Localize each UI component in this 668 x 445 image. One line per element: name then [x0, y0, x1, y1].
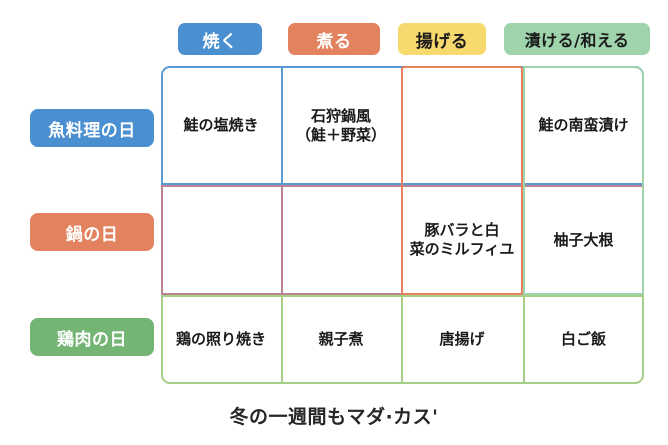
cell-text-line1: 鮭の南蛮漬け	[538, 116, 628, 134]
column-header-label: 煮る	[317, 27, 352, 52]
cell-r1-c0[interactable]	[161, 185, 281, 295]
column-header-yaku[interactable]: 焼く	[178, 23, 262, 55]
cell-r1-c3[interactable]: 柚子大根	[523, 185, 644, 295]
cell-text-line2: （鮭＋野菜）	[296, 126, 386, 144]
cell-r0-c2[interactable]	[401, 66, 523, 185]
cell-r1-c1[interactable]	[281, 185, 401, 295]
row-header-label: 魚料理の日	[48, 116, 136, 141]
row-header-label: 鶏肉の日	[57, 325, 127, 350]
meal-plan-matrix: 焼く 煮る 揚げる 漬ける/和える 魚料理の日 鍋の日 鶏肉の日 鮭の塩焼き 石…	[0, 0, 668, 445]
cell-text-line1: 鮭の塩焼き	[183, 116, 258, 134]
cell-r2-c2[interactable]: 唐揚げ	[401, 295, 523, 384]
column-header-tsukeru-aeru[interactable]: 漬ける/和える	[504, 23, 650, 55]
row-header-label: 鍋の日	[66, 220, 119, 245]
cell-r2-c3[interactable]: 白ご飯	[523, 295, 644, 384]
cell-text-line1: 石狩鍋風	[311, 107, 371, 125]
column-header-label: 焼く	[203, 27, 238, 52]
cell-r2-c1[interactable]: 親子煮	[281, 295, 401, 384]
cell-text-line1: 唐揚げ	[439, 330, 484, 348]
cell-text-line1: 白ご飯	[561, 330, 606, 348]
dish-grid: 鮭の塩焼き 石狩鍋風 （鮭＋野菜） 鮭の南蛮漬け	[161, 66, 644, 384]
caption: 冬の一週間もマダ·カス'	[0, 402, 668, 429]
row-header-nabe-day[interactable]: 鍋の日	[30, 213, 154, 251]
cell-text-line1: 鶏の照り焼き	[176, 330, 266, 348]
cell-text-line1: 親子煮	[318, 330, 363, 348]
cell-r0-c1[interactable]: 石狩鍋風 （鮭＋野菜）	[281, 66, 401, 185]
cell-text-line2: 菜のミルフィユ	[410, 240, 515, 258]
row-header-chicken-day[interactable]: 鶏肉の日	[30, 318, 154, 356]
cell-r1-c2[interactable]: 豚バラと白 菜のミルフィユ	[401, 185, 523, 295]
column-header-niru[interactable]: 煮る	[288, 23, 380, 55]
column-header-label: 漬ける/和える	[525, 27, 630, 51]
cell-text-line1: 豚バラと白	[424, 221, 499, 239]
cell-r2-c0[interactable]: 鶏の照り焼き	[161, 295, 281, 384]
cell-text-line1: 柚子大根	[553, 231, 613, 249]
cell-r0-c0[interactable]: 鮭の塩焼き	[161, 66, 281, 185]
cell-r0-c3[interactable]: 鮭の南蛮漬け	[523, 66, 644, 185]
column-header-ageru[interactable]: 揚げる	[398, 23, 486, 55]
row-header-fish-day[interactable]: 魚料理の日	[30, 109, 154, 147]
column-header-label: 揚げる	[416, 27, 469, 52]
